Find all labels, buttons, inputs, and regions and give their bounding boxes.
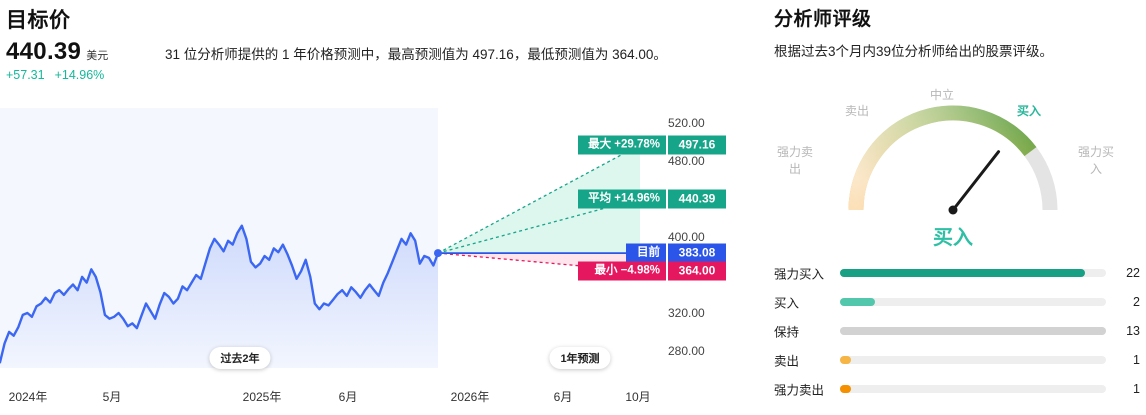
rating-breakdown-bars: 强力买入22买入2保持13卖出1强力卖出1: [760, 258, 1146, 403]
rating-bar-label: 强力卖出: [774, 379, 824, 398]
analyst-rating-panel: 分析师评级 根据过去3个月内39位分析师给出的股票评级。: [760, 0, 1146, 415]
rating-bar-count: 13: [1114, 324, 1140, 338]
rating-bar-fill: [840, 356, 851, 364]
gauge-needle: [953, 152, 999, 210]
x-axis-tick: 10月: [625, 388, 650, 405]
rating-bar-label: 保持: [774, 321, 799, 340]
rating-bar-track: [840, 385, 1106, 393]
forecast-value-max: 497.16: [668, 135, 726, 154]
stock-forecast-page: 目标价 440.39 美元 +57.31 +14.96% 31 位分析师提供的 …: [0, 0, 1146, 415]
rating-bar-fill: [840, 327, 1106, 335]
target-price-panel: 目标价 440.39 美元 +57.31 +14.96% 31 位分析师提供的 …: [0, 0, 740, 415]
rating-bar-count: 22: [1114, 266, 1140, 280]
gauge-label-sell: 卖出: [845, 102, 869, 119]
rating-bar-fill: [840, 385, 851, 393]
target-price-description: 31 位分析师提供的 1 年价格预测中，最高预测值为 497.16，最低预测值为…: [165, 44, 725, 66]
rating-bar-row: 保持13: [760, 316, 1146, 345]
analyst-rating-title: 分析师评级: [774, 4, 872, 31]
history-range-pill: 过去2年: [209, 347, 270, 369]
forecast-tag-current: 目前: [626, 244, 666, 263]
rating-bar-track: [840, 269, 1106, 277]
rating-bar-label: 强力买入: [774, 263, 824, 282]
rating-bar-fill: [840, 269, 1085, 277]
rating-bar-fill: [840, 298, 875, 306]
analyst-rating-description: 根据过去3个月内39位分析师给出的股票评级。: [774, 42, 1134, 62]
gauge-label-hold: 中立: [930, 86, 954, 103]
gauge-label-strong-sell: 强力卖出: [772, 144, 818, 178]
x-axis-tick: 2025年: [243, 388, 282, 405]
rating-bar-count: 1: [1114, 382, 1140, 396]
rating-bar-count: 2: [1114, 295, 1140, 309]
forecast-range-pill: 1年预测: [549, 347, 610, 369]
rating-bar-track: [840, 298, 1106, 306]
rating-gauge: 强力卖出 卖出 中立 买入 强力买入 买入: [760, 78, 1146, 258]
x-axis-tick: 6月: [339, 388, 358, 405]
rating-bar-row: 强力买入22: [760, 258, 1146, 287]
y-axis-tick: 480.00: [668, 154, 728, 168]
forecast-value-min: 364.00: [668, 262, 726, 281]
forecast-tag-average: 平均 +14.96%: [578, 189, 666, 208]
x-axis-labels: 2024年5月2025年6月2026年6月10月: [0, 380, 740, 415]
rating-bar-row: 强力卖出1: [760, 374, 1146, 403]
gauge-label-buy: 买入: [1017, 102, 1041, 119]
y-axis-tick: 280.00: [668, 344, 728, 358]
change-absolute: +57.31: [6, 68, 45, 82]
gauge-needle-hub: [949, 206, 958, 215]
change-percent: +14.96%: [55, 68, 105, 82]
rating-bar-label: 买入: [774, 292, 799, 311]
price-currency: 美元: [86, 47, 108, 63]
y-axis-tick: 400.00: [668, 230, 728, 244]
gauge-track-empty: [1030, 152, 1050, 210]
forecast-value-current: 383.08: [668, 244, 726, 263]
forecast-tag-max: 最大 +29.78%: [578, 135, 666, 154]
forecast-tag-min: 最小 −4.98%: [578, 262, 666, 281]
x-axis-tick: 5月: [103, 388, 122, 405]
price-change: +57.31 +14.96%: [6, 68, 104, 82]
y-axis-tick: 320.00: [668, 306, 728, 320]
current-target-price: 440.39 美元: [6, 38, 108, 66]
rating-verdict: 买入: [760, 221, 1146, 250]
page-title: 目标价: [6, 4, 71, 34]
anchor-point: [434, 249, 442, 257]
rating-bar-row: 卖出1: [760, 345, 1146, 374]
rating-bar-track: [840, 356, 1106, 364]
gauge-label-strong-buy: 强力买入: [1073, 144, 1119, 178]
price-forecast-chart[interactable]: 280.00320.00400.00480.00520.00 最大 +29.78…: [0, 108, 740, 415]
y-axis-tick: 520.00: [668, 116, 728, 130]
rating-bar-row: 买入2: [760, 287, 1146, 316]
x-axis-tick: 6月: [554, 388, 573, 405]
forecast-value-average: 440.39: [668, 189, 726, 208]
rating-bar-track: [840, 327, 1106, 335]
x-axis-tick: 2024年: [9, 388, 48, 405]
x-axis-tick: 2026年: [451, 388, 490, 405]
price-value: 440.39: [6, 38, 81, 66]
rating-bar-count: 1: [1114, 353, 1140, 367]
gauge-track-wash: [856, 113, 1030, 210]
rating-bar-label: 卖出: [774, 350, 799, 369]
